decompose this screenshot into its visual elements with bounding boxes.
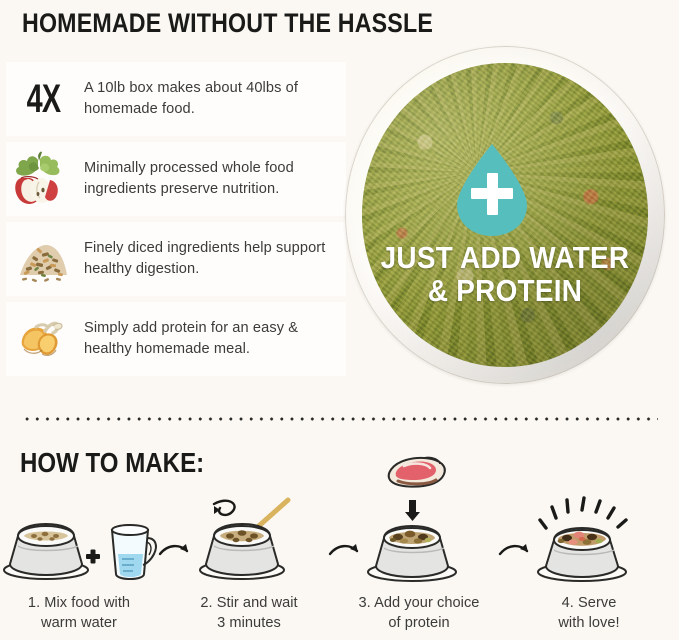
product-bowl-image: JUST ADD WATER & PROTEIN — [345, 46, 669, 388]
water-drop-plus-icon — [453, 142, 531, 238]
step-caption-line-1: 4. Serve — [562, 595, 617, 611]
howto-steps: 1. Mix food with warm water — [0, 498, 679, 633]
step-caption-line-1: 3. Add your choice — [359, 595, 480, 611]
list-item: 4. Serve with love! — [510, 498, 668, 633]
howto-title: HOW TO MAKE: — [20, 447, 204, 479]
step-caption-line-2: of protein — [388, 615, 449, 631]
bowl-caption-line-1: JUST ADD WATER — [361, 242, 649, 275]
list-item: Finely diced ingredients help support he… — [6, 222, 346, 296]
arrow-icon-3 — [498, 540, 510, 562]
list-item: 3. Add your choice of protein — [340, 498, 498, 633]
apple-and-greens-icon — [10, 146, 76, 212]
step-caption-line-2: with love! — [558, 615, 619, 631]
step-caption-line-2: 3 minutes — [217, 615, 281, 631]
plus-icon — [471, 173, 513, 215]
list-item: 4X A 10lb box makes about 40lbs of homem… — [6, 62, 346, 136]
step-caption: 4. Serve with love! — [558, 594, 619, 633]
arrow-icon-1 — [158, 540, 170, 562]
four-x-multiplier-icon: 4X — [10, 66, 76, 132]
step-caption-line-1: 2. Stir and wait — [200, 595, 297, 611]
arrow-icon-2 — [328, 540, 340, 562]
step-caption: 3. Add your choice of protein — [359, 594, 480, 633]
dog-bowl-with-food-plus-measuring-cup-icon — [0, 498, 158, 590]
benefits-list: 4X A 10lb box makes about 40lbs of homem… — [6, 62, 346, 382]
benefit-text: Simply add protein for an easy & healthy… — [76, 318, 346, 359]
chicken-drumsticks-icon — [10, 306, 76, 372]
bowl-caption-line-2: & PROTEIN — [361, 275, 649, 308]
benefit-text: Minimally processed whole food ingredien… — [76, 158, 346, 199]
benefit-text: A 10lb box makes about 40lbs of homemade… — [76, 78, 346, 119]
dog-bowl-with-steak-icon — [340, 498, 498, 590]
list-item: 1. Mix food with warm water — [0, 498, 158, 633]
diced-grains-icon — [10, 226, 76, 292]
infographic-page: HOMEMADE WITHOUT THE HASSLE 4X A 10lb bo… — [0, 0, 679, 640]
list-item: Minimally processed whole food ingredien… — [6, 142, 346, 216]
bowl-caption: JUST ADD WATER & PROTEIN — [345, 242, 665, 308]
step-caption: 1. Mix food with warm water — [28, 594, 130, 633]
step-caption-line-2: warm water — [41, 615, 117, 631]
dog-bowl-with-stirring-spoon-icon — [170, 498, 328, 590]
finished-dog-bowl-icon — [510, 498, 668, 590]
dotted-divider — [22, 417, 658, 421]
list-item: 2. Stir and wait 3 minutes — [170, 498, 328, 633]
step-caption-line-1: 1. Mix food with — [28, 595, 130, 611]
benefit-text: Finely diced ingredients help support he… — [76, 238, 346, 279]
step-caption: 2. Stir and wait 3 minutes — [200, 594, 297, 633]
list-item: Simply add protein for an easy & healthy… — [6, 302, 346, 376]
page-title: HOMEMADE WITHOUT THE HASSLE — [22, 8, 433, 39]
four-x-label: 4X — [26, 77, 60, 122]
